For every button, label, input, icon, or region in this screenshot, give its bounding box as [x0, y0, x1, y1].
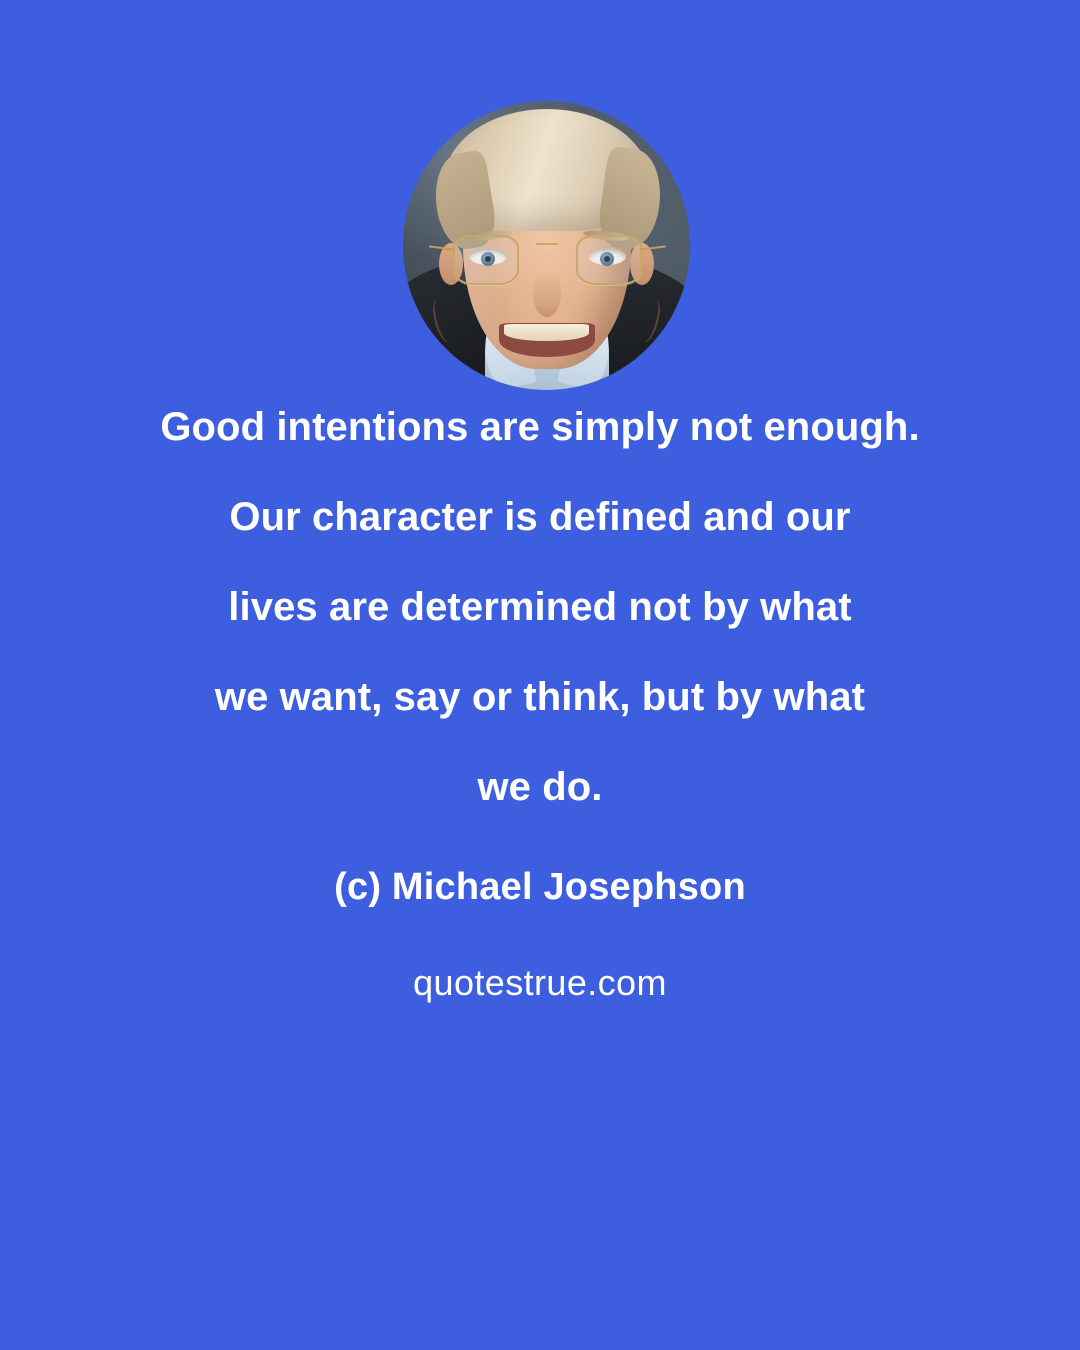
glasses-temple-right	[640, 245, 666, 250]
quote-line: Good intentions are simply not enough.	[0, 382, 1080, 472]
quote-line: we want, say or think, but by what	[0, 652, 1080, 742]
quote-body: Good intentions are simply not enough. O…	[0, 382, 1080, 832]
portrait-photo	[403, 101, 690, 390]
site-watermark: quotestrue.com	[0, 962, 1080, 1004]
quote-card: Good intentions are simply not enough. O…	[0, 0, 1080, 1350]
mouth-smile	[499, 323, 595, 357]
quote-line: lives are determined not by what	[0, 562, 1080, 652]
quote-line: we do.	[0, 742, 1080, 832]
glasses-bridge	[536, 243, 558, 245]
quote-attribution: (c) Michael Josephson	[0, 866, 1080, 909]
nose	[533, 271, 561, 317]
teeth	[504, 324, 588, 341]
avatar	[403, 101, 690, 390]
glasses-temple-left	[429, 245, 455, 250]
glasses-lens-left	[453, 235, 519, 285]
quote-line: Our character is defined and our	[0, 472, 1080, 562]
glasses-lens-right	[576, 235, 642, 285]
